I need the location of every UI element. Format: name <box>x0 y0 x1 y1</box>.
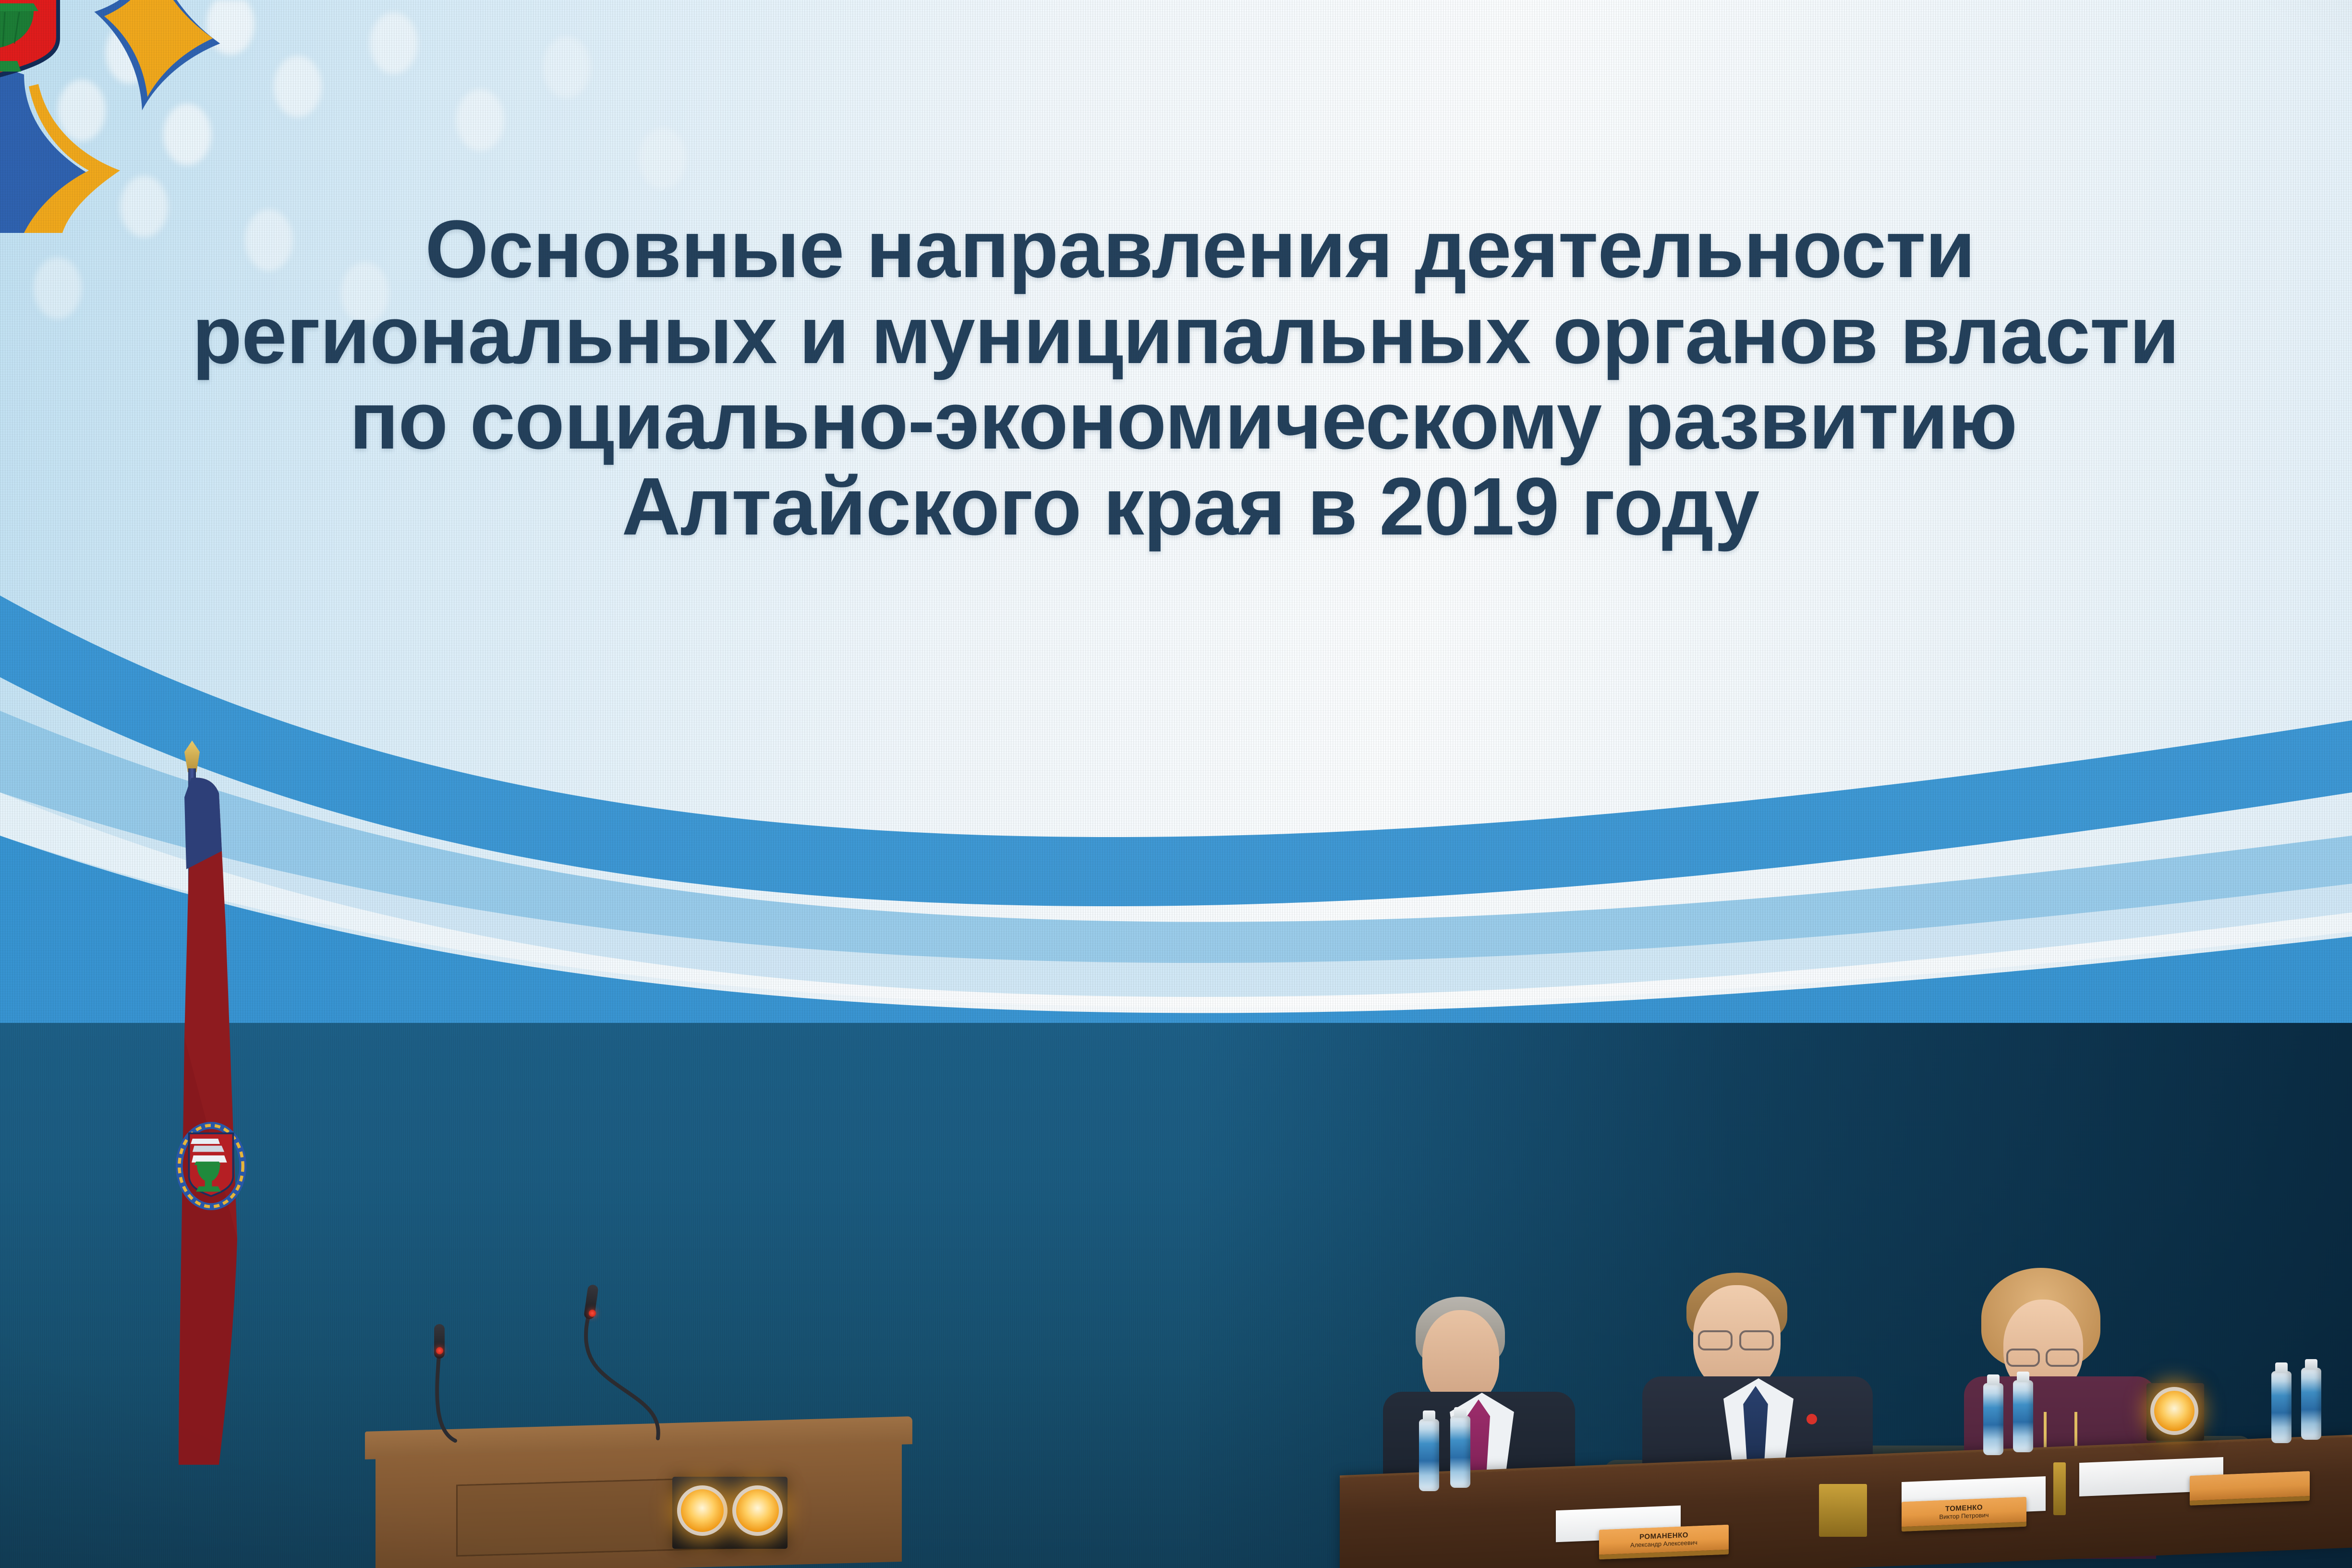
eyeglasses-icon <box>2046 1349 2079 1367</box>
water-bottle <box>2301 1368 2321 1440</box>
presentation-title: Основные направления деятельности регион… <box>0 207 2352 549</box>
altai-krai-coat-of-arms-icon <box>0 0 274 233</box>
stage-blinder-light-right <box>2146 1383 2204 1441</box>
blinder-lamp-bulb <box>732 1485 783 1536</box>
nameplate-seat-2: ТОМЕНКО Виктор Петрович <box>1902 1497 2026 1532</box>
stage-blinder-light-left <box>672 1477 788 1549</box>
altai-krai-flag <box>134 768 293 1465</box>
title-line-2: региональных и муниципальных органов вла… <box>0 292 2352 378</box>
blinder-lamp-bulb <box>2150 1387 2198 1435</box>
led-presentation-screen: Основные направления деятельности регион… <box>0 0 2352 1057</box>
speaker-podium <box>365 1424 912 1568</box>
nameplate-seat-1: РОМАНЕНКО Александр Алексеевич <box>1599 1525 1729 1560</box>
desk-pen-stand <box>2053 1462 2066 1515</box>
microphone-led-indicator <box>589 1310 596 1317</box>
screen-wave-graphic <box>0 567 2352 1057</box>
podium-microphone-right <box>543 1299 667 1438</box>
water-bottle <box>2013 1380 2033 1452</box>
scene-root: Основные направления деятельности регион… <box>0 0 2352 1568</box>
water-bottle <box>1419 1419 1439 1491</box>
nameplate-first-patronymic: Виктор Петрович <box>1939 1511 1988 1520</box>
water-bottle <box>1450 1416 1470 1488</box>
nameplate-seat-3 <box>2190 1471 2310 1506</box>
lapel-pin-icon <box>1806 1414 1817 1424</box>
eyeglasses-icon <box>2006 1349 2040 1367</box>
desk-pen-stand <box>1819 1484 1867 1537</box>
title-line-4: Алтайского края в 2019 году <box>0 464 2352 550</box>
microphone-led-indicator <box>436 1347 443 1354</box>
eyeglasses-icon <box>1698 1330 1733 1350</box>
podium-microphone-left <box>422 1328 460 1438</box>
title-line-3: по социально-экономическому развитию <box>0 378 2352 464</box>
eyeglasses-icon <box>1739 1330 1774 1350</box>
water-bottle <box>2271 1371 2291 1443</box>
blinder-lamp-bulb <box>677 1485 727 1536</box>
water-bottle <box>1983 1383 2003 1455</box>
title-line-1: Основные направления деятельности <box>0 207 2352 292</box>
